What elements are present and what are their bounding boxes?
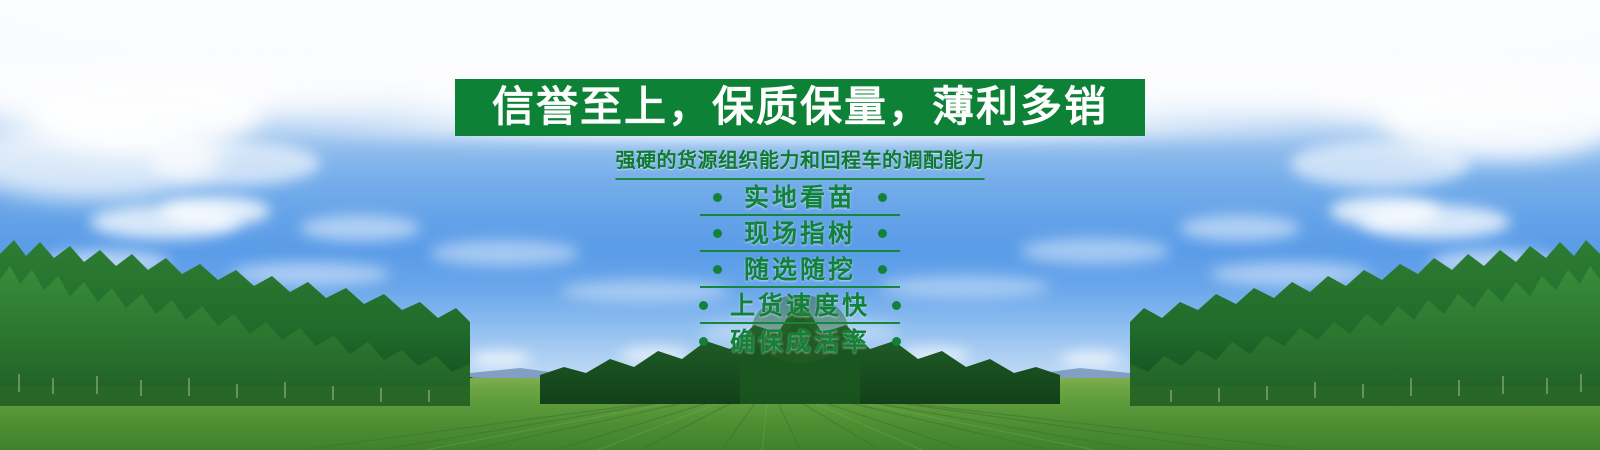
feature-divider [700, 250, 900, 252]
feature-label: 随选随挖 [744, 257, 856, 282]
feature-label: 现场指树 [744, 221, 856, 246]
feature-label: 实地看苗 [744, 185, 856, 210]
feature-divider [700, 322, 900, 324]
promotional-banner: 信誉至上，保质保量，薄利多销 强硬的货源组织能力和回程车的调配能力 实地看苗 现… [0, 0, 1600, 450]
bullet-dot-icon [878, 265, 887, 274]
bullet-dot-icon [713, 193, 722, 202]
feature-list: 实地看苗 现场指树 随选随挖 上货速度快 [590, 181, 1010, 361]
bullet-dot-icon [699, 301, 708, 310]
list-item: 确保成活率 [590, 325, 1010, 357]
bullet-dot-icon [713, 229, 722, 238]
list-item: 随选随挖 [590, 253, 1010, 285]
page-title: 信誉至上，保质保量，薄利多销 [492, 86, 1108, 130]
bullet-dot-icon [892, 337, 901, 346]
banner-subtitle: 强硬的货源组织能力和回程车的调配能力 [616, 144, 985, 180]
bullet-dot-icon [713, 265, 722, 274]
feature-divider [700, 214, 900, 216]
list-item: 上货速度快 [590, 289, 1010, 321]
bullet-dot-icon [892, 301, 901, 310]
banner-content: 信誉至上，保质保量，薄利多销 强硬的货源组织能力和回程车的调配能力 实地看苗 现… [0, 0, 1600, 450]
feature-divider [700, 286, 900, 288]
list-item: 实地看苗 [590, 181, 1010, 213]
bullet-dot-icon [878, 229, 887, 238]
list-item: 现场指树 [590, 217, 1010, 249]
feature-label: 上货速度快 [730, 293, 870, 318]
feature-label: 确保成活率 [730, 329, 870, 354]
headline-banner-bar: 信誉至上，保质保量，薄利多销 [455, 79, 1145, 136]
bullet-dot-icon [878, 193, 887, 202]
bullet-dot-icon [699, 337, 708, 346]
